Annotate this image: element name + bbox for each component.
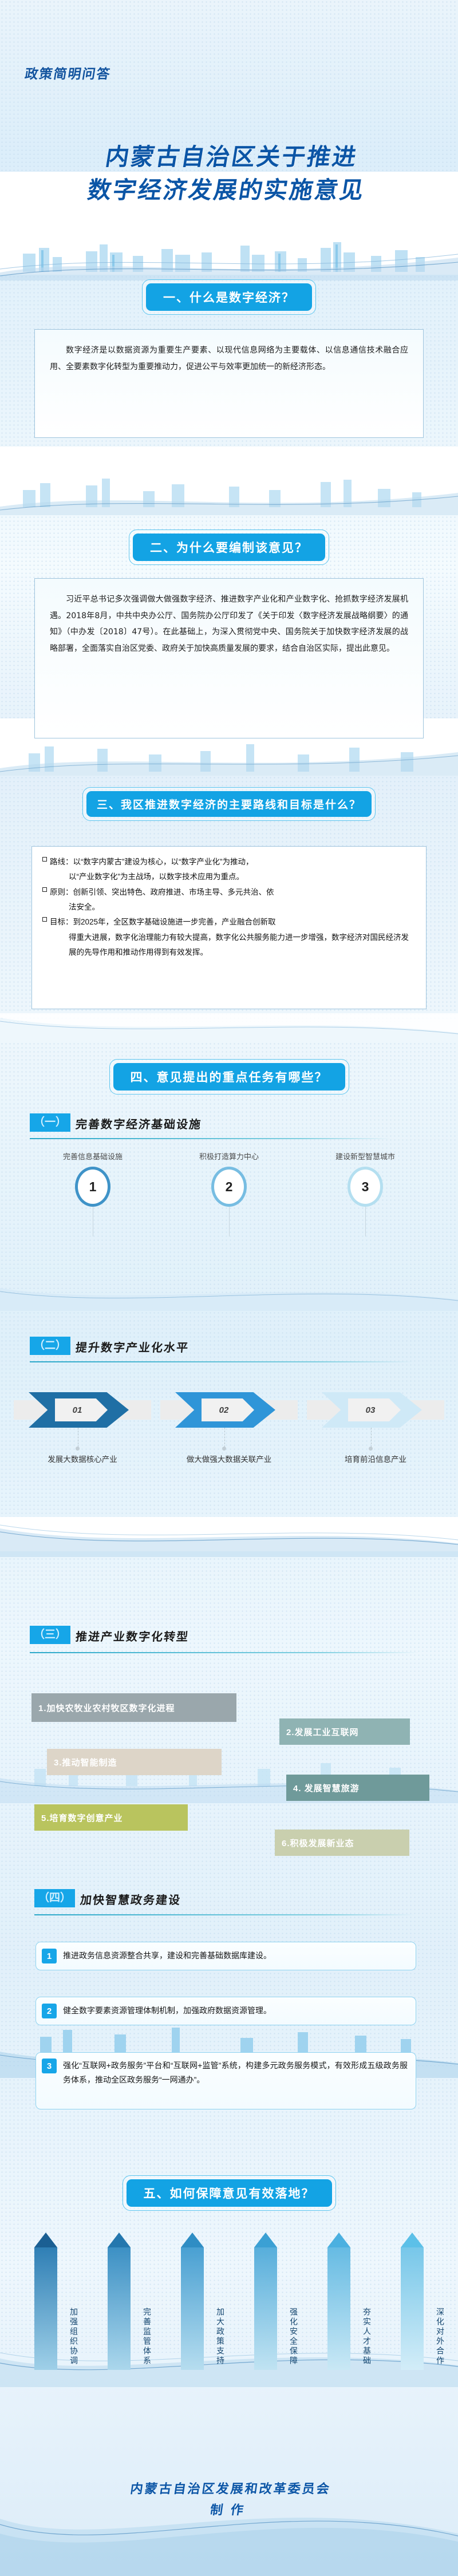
bullet-principle-text: 原则：创新引领、突出特色、政府推进、市场主导、多元共治、依 [50,885,416,900]
pillar-arrow-icon-1 [34,2233,57,2247]
bullet-route-line2: 以“产业数字化”为主战场，以数字技术应用为重点。 [42,870,416,884]
pillar-label-6: 深化对外合作 [378,2285,446,2388]
subsection-1-tag: （一） [30,1113,70,1132]
infographic-page: 政策简明问答 内蒙古自治区关于推进 数字经济发展的实施意见 一、什么是数字经济？… [0,0,458,2576]
circle-item-1[interactable]: 完善信息基础设施 1 [41,1151,144,1236]
section-2-heading: 二、为什么要编制该意见？ [0,530,458,565]
chevron-number-2: 02 [202,1398,254,1421]
govt-task-text-2: 健全数字要素资源管理体制机制，加强政府数据资源管理。 [63,2004,408,2018]
chevron-stem-3 [371,1428,372,1447]
skyline-graphic-2 [0,473,458,507]
govt-task-row-3[interactable]: 3 强化“互联网+政务服务”平台和“互联网+监管”系统，构建多元政务服务模式，有… [35,2052,416,2109]
section-2-body: 习近平总书记多次强调做大做强数字经济、推进数字产业化和产业数字化、抢抓数字经济发… [50,591,408,657]
bullet-goal: 目标：到2025年，全区数字基础设施进一步完善，产业融合创新取 [42,915,416,930]
chevron-dot-3 [369,1447,373,1451]
section-1-heading-frame: 一、什么是数字经济？ [142,279,316,315]
bullet-route-text: 路线：以“数字内蒙古”建设为核心，以“数字产业化”为推动， [50,855,416,870]
chevron-item-2[interactable]: 02 做大做强大数据关联产业 [160,1392,298,1428]
bullet-principle-line2: 法安全。 [42,900,416,915]
pillar-label-2: 完善监管体系 [85,2285,153,2388]
circle-stem-2 [229,1207,230,1236]
subsection-2-rule [30,1361,413,1362]
footer-line1: 内蒙古自治区发展和改革委员会 [0,2479,458,2500]
govt-task-badge-1: 1 [42,1949,57,1963]
square-bullet-icon-3 [42,915,50,930]
subsection-3-rule [30,1652,419,1653]
circle-item-2[interactable]: 积极打造算力中心 2 [177,1151,281,1236]
bullet-route-line1: 以“数字内蒙古”建设为核心，以“数字产业化”为推动， [73,858,254,866]
govt-task-badge-3: 3 [42,2059,57,2073]
guarantee-pillars: 加强组织协调 完善监管体系 加大政策支持 强化安全保障 夯实人才基础 深化对外合… [0,2233,458,2370]
pillar-arrow-icon-6 [401,2233,424,2247]
subsection-3-tag: （三） [30,1626,70,1644]
subsection-3-title: 推进产业数字化转型 [75,1630,190,1644]
section-2-card: 习近平总书记多次强调做大做强数字经济、推进数字产业化和产业数字化、抢抓数字经济发… [34,578,424,738]
chevron-number-3: 03 [348,1398,401,1421]
page-title-line2: 数字经济发展的实施意见 [0,173,458,207]
footer: 内蒙古自治区发展和改革委员会 制 作 [0,2479,458,2522]
section-1-heading: 一、什么是数字经济？ [0,279,458,315]
stair-bar-6[interactable]: 6.积极发展新业态 [275,1830,409,1856]
bullet-goal-label: 目标： [50,918,73,926]
section-5-heading-label: 五、如何保障意见有效落地？ [127,2179,332,2207]
chevron-number-1: 01 [55,1398,108,1421]
chevron-dot-1 [76,1447,80,1451]
bullet-route: 路线：以“数字内蒙古”建设为核心，以“数字产业化”为推动， [42,855,416,870]
industrialization-chevrons: 01 发展大数据核心产业 02 做大做强大数据关联产业 03 [0,1392,458,1428]
pillar-5[interactable]: 夯实人才基础 [305,2233,373,2370]
section-4-heading-label: 四、意见提出的重点任务有哪些？ [113,1063,345,1091]
section-2-heading-label: 二、为什么要编制该意见？ [133,534,325,561]
circle-stem-1 [93,1207,93,1236]
chevron-stem-2 [224,1428,225,1447]
circle-stem-3 [365,1207,366,1236]
subsection-1-heading: （一） 完善数字经济基础设施 [30,1113,202,1132]
footer-line2: 制 作 [0,2500,458,2521]
subsection-4-heading: （四） 加快智慧政务建设 [34,1889,181,1907]
square-bullet-icon [42,855,50,870]
govt-task-text-1: 推进政务信息资源整合共享，建设和完善基础数据库建设。 [63,1949,408,1963]
pillar-label-4: 强化安全保障 [232,2285,299,2388]
circle-label-1: 完善信息基础设施 [41,1151,144,1161]
section-2-heading-frame: 二、为什么要编制该意见？ [129,530,329,565]
chevron-item-1[interactable]: 01 发展大数据核心产业 [14,1392,151,1428]
bullet-goal-text: 目标：到2025年，全区数字基础设施进一步完善，产业融合创新取 [50,915,416,930]
pillar-arrow-icon-2 [108,2233,131,2247]
stair-bar-4[interactable]: 4. 发展智慧旅游 [286,1775,429,1801]
section-5-heading-frame: 五、如何保障意见有效落地？ [123,2175,336,2211]
section-4-heading-frame: 四、意见提出的重点任务有哪些？ [109,1059,349,1095]
pillar-label-5: 夯实人才基础 [305,2285,373,2388]
kicker-label: 政策简明问答 [23,63,112,82]
subsection-3-heading: （三） 推进产业数字化转型 [30,1626,189,1644]
section-3-heading-frame: 三、我区推进数字经济的主要路线和目标是什么？ [82,787,376,821]
pillar-4[interactable]: 强化安全保障 [232,2233,299,2370]
circle-label-3: 建设新型智慧城市 [314,1151,417,1161]
white-band-4 [0,1517,458,1551]
chevron-item-3[interactable]: 03 培育前沿信息产业 [307,1392,444,1428]
section-1-card: 数字经济是以数据资源为重要生产要素、以现代信息网络为主要载体、以信息通信技术融合… [34,329,424,438]
chevron-label-1: 发展大数据核心产业 [14,1453,151,1464]
circle-item-3[interactable]: 建设新型智慧城市 3 [314,1151,417,1236]
stair-bar-5[interactable]: 5.培育数字创意产业 [34,1804,188,1831]
bullet-goal-line2: 得重大进展，数字化治理能力有较大提高，数字化公共服务能力进一步增强，数字经济对国… [42,930,416,961]
circle-number-3: 3 [348,1167,383,1207]
skyline-graphic-5 [0,2021,458,2055]
subsection-4-title: 加快智慧政务建设 [80,1893,182,1907]
page-title-line1: 内蒙古自治区关于推进 [0,140,458,173]
pillar-label-1: 加强组织协调 [12,2285,80,2388]
section-3-bullet-card: 路线：以“数字内蒙古”建设为核心，以“数字产业化”为推动， 以“产业数字化”为主… [31,846,427,1009]
bullet-principle: 原则：创新引领、突出特色、政府推进、市场主导、多元共治、依 [42,885,416,900]
chevron-label-3: 培育前沿信息产业 [307,1453,444,1464]
pillar-arrow-icon-5 [327,2233,350,2247]
subsection-4-tag: （四） [34,1889,75,1907]
circle-number-1: 1 [75,1167,110,1207]
circle-number-2: 2 [211,1167,247,1207]
stair-bar-2[interactable]: 2.发展工业互联网 [279,1718,410,1745]
section-1-body: 数字经济是以数据资源为重要生产要素、以现代信息网络为主要载体、以信息通信技术融合… [50,342,408,375]
subsection-2-tag: （二） [30,1337,70,1355]
govt-task-text-3: 强化“互联网+政务服务”平台和“互联网+监管”系统，构建多元政务服务模式，有效形… [63,2059,408,2087]
pillar-arrow-icon-4 [254,2233,277,2247]
infrastructure-circles: 完善信息基础设施 1 积极打造算力中心 2 建设新型智慧城市 3 [0,1151,458,1236]
pillar-6[interactable]: 深化对外合作 [378,2233,446,2370]
bullet-goal-line1: 到2025年，全区数字基础设施进一步完善，产业融合创新取 [73,918,276,926]
bullet-route-label: 路线： [50,858,73,866]
pillar-3[interactable]: 加大政策支持 [159,2233,226,2370]
page-title: 内蒙古自治区关于推进 数字经济发展的实施意见 [0,140,458,207]
govt-task-row-1[interactable]: 1 推进政务信息资源整合共享，建设和完善基础数据库建设。 [35,1942,416,1970]
square-bullet-icon-2 [42,885,50,900]
section-4-heading: 四、意见提出的重点任务有哪些？ [0,1059,458,1095]
section-1-heading-label: 一、什么是数字经济？ [146,283,312,311]
stair-bar-3[interactable]: 3.推动智能制造 [47,1749,222,1775]
section-3-heading-label: 三、我区推进数字经济的主要路线和目标是什么？ [86,791,372,817]
pillar-arrow-icon-3 [181,2233,204,2247]
circle-label-2: 积极打造算力中心 [177,1151,281,1161]
chevron-label-2: 做大做强大数据关联产业 [160,1453,298,1464]
chevron-stem-1 [78,1428,78,1447]
pillar-label-3: 加大政策支持 [159,2285,226,2388]
section-3-heading: 三、我区推进数字经济的主要路线和目标是什么？ [0,787,458,821]
pillar-2[interactable]: 完善监管体系 [85,2233,153,2370]
stair-bar-1[interactable]: 1.加快农牧业农村牧区数字化进程 [31,1693,236,1722]
pillar-1[interactable]: 加强组织协调 [12,2233,80,2370]
subsection-1-rule [30,1138,390,1139]
govt-task-badge-2: 2 [42,2004,57,2018]
subsection-4-rule [34,1914,415,1915]
bullet-principle-line1: 创新引领、突出特色、政府推进、市场主导、多元共治、依 [73,888,274,896]
section-5-heading: 五、如何保障意见有效落地？ [0,2175,458,2211]
skyline-graphic [0,238,458,272]
subsection-2-heading: （二） 提升数字产业化水平 [30,1337,189,1355]
bullet-principle-label: 原则： [50,888,73,896]
chevron-dot-2 [222,1447,226,1451]
skyline-graphic-3 [0,737,458,772]
subsection-2-title: 提升数字产业化水平 [75,1341,190,1355]
subsection-1-title: 完善数字经济基础设施 [75,1117,203,1132]
govt-task-row-2[interactable]: 2 健全数字要素资源管理体制机制，加强政府数据资源管理。 [35,1997,416,2025]
